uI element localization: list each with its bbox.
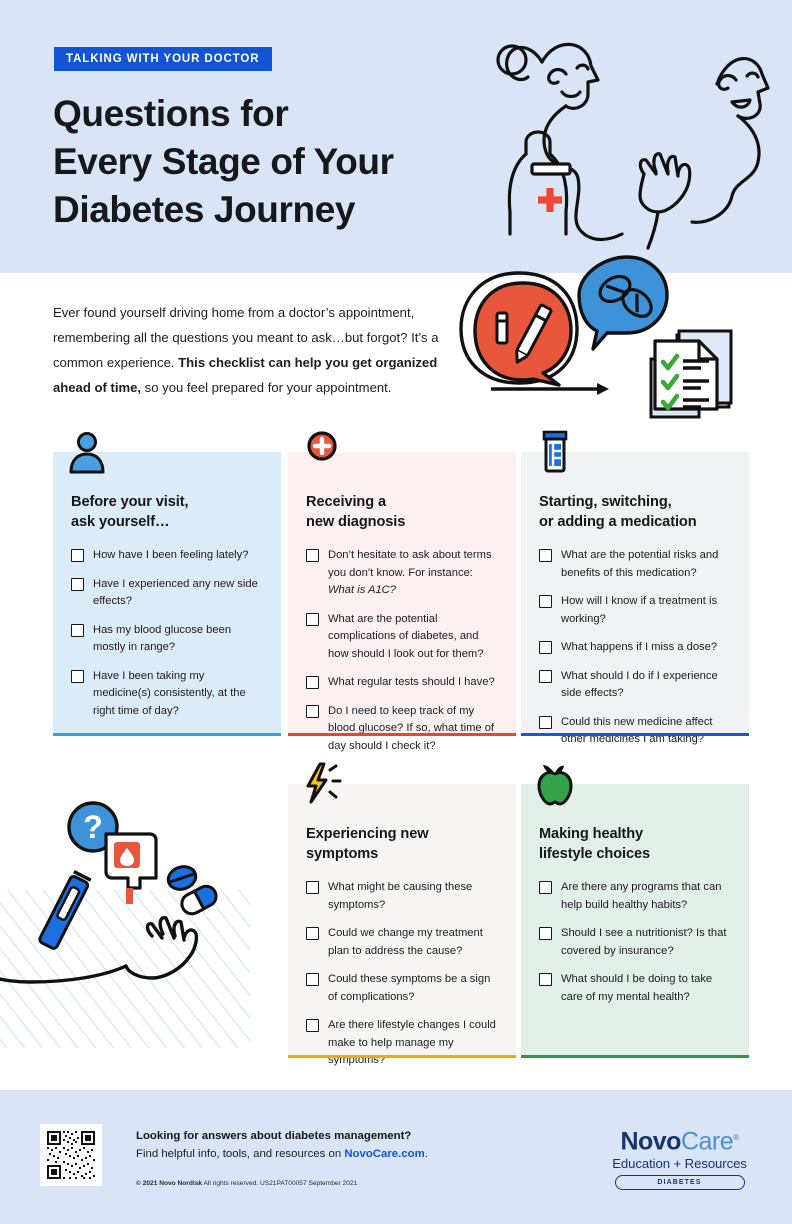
eyebrow-badge: TALKING WITH YOUR DOCTOR: [54, 47, 272, 71]
checklist-item-label: Are there any programs that can help bui…: [561, 879, 731, 914]
novocare-logo: NovoCare® Education + Resources DIABETES: [607, 1124, 752, 1190]
card-title-line-2: lifestyle choices: [539, 846, 650, 862]
registered-mark-icon: ®: [733, 1133, 738, 1142]
card-title-line-1: Starting, switching,: [539, 494, 672, 510]
glucose-supplies-illustration: ?: [0, 790, 270, 1065]
checklist-item-label: What might be causing these symptoms?: [328, 879, 498, 914]
card-experiencing-new-symptoms: Experiencing new symptoms What might be …: [288, 784, 516, 1058]
checklist-item[interactable]: What should I be doing to take care of m…: [539, 971, 731, 1006]
red-plus-icon: [302, 430, 342, 474]
checklist-item-label: What are the potential complications of …: [328, 611, 498, 664]
checkbox[interactable]: [71, 670, 84, 683]
card-title: Receiving a new diagnosis: [306, 492, 498, 532]
card-before-your-visit: Before your visit, ask yourself… How hav…: [53, 452, 281, 736]
checklist-item-label: Could this new medicine affect other med…: [561, 714, 731, 749]
speech-bubbles-checklist-illustration: [455, 255, 775, 430]
checkbox[interactable]: [539, 549, 552, 562]
checklist: What are the potential risks and benefit…: [539, 547, 731, 749]
card-title: Experiencing new symptoms: [306, 824, 498, 864]
legal-rest: All rights reserved. US21PAT00057 Septem…: [202, 1180, 357, 1187]
page-title-line-1: Questions for: [53, 90, 523, 138]
checklist-item[interactable]: What are the potential risks and benefit…: [539, 547, 731, 582]
checklist-item-label: Could these symptoms be a sign of compli…: [328, 971, 498, 1006]
checklist-item-emphasis: What is A1C?: [328, 584, 396, 596]
checkbox[interactable]: [306, 1019, 319, 1032]
checkbox[interactable]: [306, 676, 319, 689]
checklist-item-label: What should I be doing to take care of m…: [561, 971, 731, 1006]
card-title-line-2: ask yourself…: [71, 514, 169, 530]
checklist-item[interactable]: What are the potential complications of …: [306, 611, 498, 664]
checkbox[interactable]: [71, 549, 84, 562]
checklist: Are there any programs that can help bui…: [539, 879, 731, 1006]
checklist: Don’t hesitate to ask about terms you do…: [306, 547, 498, 755]
card-title-line-2: new diagnosis: [306, 514, 405, 530]
card-accent-rule: [521, 1055, 749, 1059]
checklist-item-label: What happens if I miss a dose?: [561, 639, 717, 657]
card-accent-rule: [521, 733, 749, 737]
checklist-item-label: How have I been feeling lately?: [93, 547, 248, 565]
checklist-item[interactable]: What might be causing these symptoms?: [306, 879, 498, 914]
card-title: Before your visit, ask yourself…: [71, 492, 263, 532]
card-making-healthy-lifestyle-choices: Making healthy lifestyle choices Are the…: [521, 784, 749, 1058]
card-title-line-1: Before your visit,: [71, 494, 188, 510]
checkbox[interactable]: [71, 624, 84, 637]
checklist-item[interactable]: Could this new medicine affect other med…: [539, 714, 731, 749]
checklist-item-label: Have I experienced any new side effects?: [93, 576, 263, 611]
page-title: Questions for Every Stage of Your Diabet…: [53, 90, 523, 234]
page-title-line-2: Every Stage of Your: [53, 138, 523, 186]
person-icon: [67, 430, 107, 474]
checkbox[interactable]: [539, 927, 552, 940]
footer-subline-suffix: .: [425, 1148, 428, 1160]
card-title: Starting, switching, or adding a medicat…: [539, 492, 731, 532]
checkbox[interactable]: [539, 881, 552, 894]
checklist-item-label: Do I need to keep track of my blood gluc…: [328, 703, 498, 756]
card-receiving-a-new-diagnosis: Receiving a new diagnosis Don’t hesitate…: [288, 452, 516, 736]
checkbox[interactable]: [306, 927, 319, 940]
checklist-item[interactable]: Have I been taking my medicine(s) consis…: [71, 668, 263, 721]
checkbox[interactable]: [306, 973, 319, 986]
checkbox[interactable]: [306, 705, 319, 718]
apple-icon: [535, 762, 575, 806]
checklist-item-label: What are the potential risks and benefit…: [561, 547, 731, 582]
hero-banner: TALKING WITH YOUR DOCTOR Questions for E…: [0, 0, 792, 273]
checklist-item-label: Don’t hesitate to ask about terms you do…: [328, 547, 498, 600]
checklist-item-label: Should I see a nutritionist? Is that cov…: [561, 925, 731, 960]
logo-tagline: Education + Resources: [607, 1155, 752, 1172]
blue-pill-bubble: [579, 257, 667, 349]
checklist-item-label: How will I know if a treatment is workin…: [561, 593, 731, 628]
card-title-line-2: or adding a medication: [539, 514, 697, 530]
checklist-item-label: What regular tests should I have?: [328, 674, 495, 692]
pill-bottle-icon: [535, 430, 575, 474]
checkbox[interactable]: [539, 641, 552, 654]
checklist-item[interactable]: Do I need to keep track of my blood gluc…: [306, 703, 498, 756]
checklist-item-label: Are there lifestyle changes I could make…: [328, 1017, 498, 1070]
card-title: Making healthy lifestyle choices: [539, 824, 731, 864]
checkbox[interactable]: [539, 670, 552, 683]
checklist-item-label: Have I been taking my medicine(s) consis…: [93, 668, 263, 721]
card-title-line-2: symptoms: [306, 846, 378, 862]
intro-text-part-2: so you feel prepared for your appointmen…: [141, 380, 391, 395]
card-starting-switching-medication: Starting, switching, or adding a medicat…: [521, 452, 749, 736]
checkbox[interactable]: [306, 613, 319, 626]
checklist-item[interactable]: Could we change my treatment plan to add…: [306, 925, 498, 960]
qr-code[interactable]: [40, 1124, 102, 1186]
checklist-item-label: Could we change my treatment plan to add…: [328, 925, 498, 960]
checklist-item[interactable]: What happens if I miss a dose?: [539, 639, 731, 657]
checkbox[interactable]: [306, 881, 319, 894]
logo-novo: Novo: [620, 1127, 681, 1155]
lightning-bolt-icon: [302, 762, 342, 806]
checklist-item[interactable]: Are there any programs that can help bui…: [539, 879, 731, 914]
legal-copyright: © 2021 Novo Nordisk: [136, 1180, 202, 1187]
checklist-item[interactable]: Are there lifestyle changes I could make…: [306, 1017, 498, 1070]
infographic-page: TALKING WITH YOUR DOCTOR Questions for E…: [0, 0, 792, 1224]
checklist: What might be causing these symptoms? Co…: [306, 879, 498, 1070]
checkbox[interactable]: [306, 549, 319, 562]
checkbox[interactable]: [539, 716, 552, 729]
checklist-item[interactable]: How have I been feeling lately?: [71, 547, 263, 565]
footer-subline: Find helpful info, tools, and resources …: [136, 1148, 428, 1160]
checklist-item-text: Don’t hesitate to ask about terms you do…: [328, 549, 492, 579]
checklist-item[interactable]: Could these symptoms be a sign of compli…: [306, 971, 498, 1006]
checkbox[interactable]: [539, 595, 552, 608]
card-title-line-1: Receiving a: [306, 494, 386, 510]
legal-line: © 2021 Novo Nordisk All rights reserved.…: [136, 1180, 357, 1187]
card-accent-rule: [288, 1055, 516, 1059]
checklist-item[interactable]: What should I do if I experience side ef…: [539, 668, 731, 703]
card-accent-rule: [288, 733, 516, 737]
doctor-patient-illustration: [470, 22, 792, 282]
checklist-item[interactable]: Has my blood glucose been mostly in rang…: [71, 622, 263, 657]
checklist-papers: [651, 331, 731, 417]
footer-headline: Looking for answers about diabetes manag…: [136, 1130, 411, 1142]
checklist-item[interactable]: Don’t hesitate to ask about terms you do…: [306, 547, 498, 600]
checklist-item[interactable]: How will I know if a treatment is workin…: [539, 593, 731, 628]
card-title-line-1: Experiencing new: [306, 826, 428, 842]
logo-diabetes-pill: DIABETES: [615, 1175, 745, 1190]
checklist-item-label: Has my blood glucose been mostly in rang…: [93, 622, 263, 657]
intro-paragraph: Ever found yourself driving home from a …: [53, 300, 448, 400]
card-title-line-1: Making healthy: [539, 826, 643, 842]
checkbox[interactable]: [539, 973, 552, 986]
checklist: How have I been feeling lately? Have I e…: [71, 547, 263, 720]
novocare-link[interactable]: NovoCare.com: [344, 1148, 424, 1160]
checklist-item-label: What should I do if I experience side ef…: [561, 668, 731, 703]
checklist-item[interactable]: Should I see a nutritionist? Is that cov…: [539, 925, 731, 960]
checklist-item[interactable]: Have I experienced any new side effects?: [71, 576, 263, 611]
checkbox[interactable]: [71, 578, 84, 591]
checklist-item[interactable]: What regular tests should I have?: [306, 674, 498, 692]
svg-text:?: ?: [83, 809, 103, 845]
logo-wordmark: NovoCare®: [607, 1124, 752, 1155]
card-accent-rule: [53, 733, 281, 737]
page-title-line-3: Diabetes Journey: [53, 186, 523, 234]
footer-subline-prefix: Find helpful info, tools, and resources …: [136, 1148, 344, 1160]
logo-care: Care: [681, 1127, 733, 1155]
